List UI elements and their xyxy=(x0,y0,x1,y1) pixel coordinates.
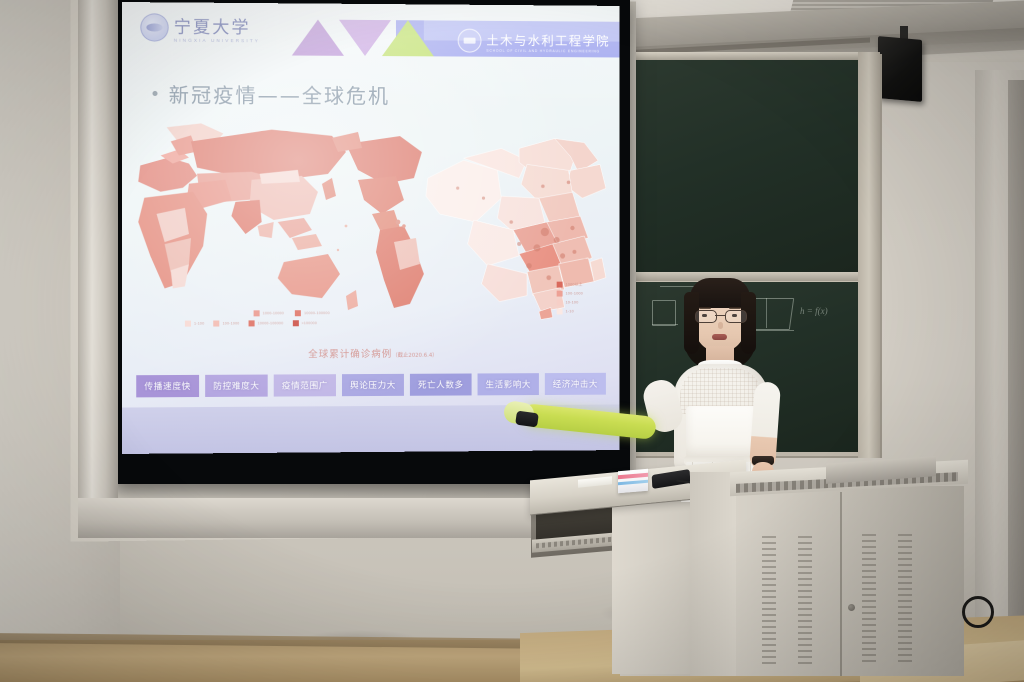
legend-label: 100-1000 xyxy=(566,292,583,296)
legend-swatch-icon xyxy=(557,300,563,306)
china-choropleth-map xyxy=(424,126,612,322)
bullet-point-icon xyxy=(152,91,157,96)
legend-swatch-icon xyxy=(213,320,219,326)
glasses xyxy=(694,310,746,322)
cabinet-vent xyxy=(862,534,876,664)
world-map-legend-row-2: 1-100 100-1000 10000-100000 >100000 xyxy=(185,320,317,326)
glasses-bridge xyxy=(715,315,725,316)
keyword-chip[interactable]: 死亡人数多 xyxy=(410,373,472,395)
map-caption-main: 全球累计确诊病例 xyxy=(308,349,392,360)
coiled-cable xyxy=(962,596,994,628)
legend-label: 1000-10000 xyxy=(263,311,284,315)
legend-swatch-icon xyxy=(557,282,563,288)
cabinet-side-panel xyxy=(690,472,740,676)
legend-item: 10-100 xyxy=(557,299,583,305)
nose xyxy=(718,322,723,329)
legend-label: 10000-100000 xyxy=(304,311,330,315)
legend-swatch-icon xyxy=(557,291,563,297)
legend-label: 1-100 xyxy=(194,322,204,326)
legend-label: >100000 xyxy=(301,321,317,325)
university-name-cn: 宁夏大学 xyxy=(174,13,260,39)
legend-swatch-icon xyxy=(254,310,260,316)
school-seal-icon xyxy=(458,29,482,53)
keyword-chip[interactable]: 生活影响大 xyxy=(478,373,539,395)
university-name-en: NINGXIA UNIVERSITY xyxy=(174,38,260,44)
dress-bodice xyxy=(686,406,758,458)
lens-left xyxy=(695,310,717,323)
slide-header: 宁夏大学 NINGXIA UNIVERSITY 土木与水利工程学院 SCHOOL… xyxy=(122,2,620,67)
chalkboard-top-rail xyxy=(634,52,862,60)
school-name-cn: 土木与水利工程学院 xyxy=(486,29,609,49)
legend-item: 100-1000 xyxy=(557,291,583,297)
screen-aluminum-frame-left xyxy=(78,0,118,536)
chalkboard-upper-panel xyxy=(636,60,858,274)
triangle-decoration-purple xyxy=(292,19,344,55)
chalkboard-side-panel xyxy=(858,52,880,458)
lens-right xyxy=(725,310,747,323)
cabinet-vent xyxy=(762,536,776,666)
legend-item: >100000 xyxy=(292,320,317,326)
legend-label: 10-100 xyxy=(566,300,579,304)
door-gap xyxy=(1008,80,1024,640)
keyword-chip[interactable]: 舆论压力大 xyxy=(342,374,404,396)
hair-side-left xyxy=(684,292,699,354)
map-caption: 全球累计确诊病例（截止2020.6.4） xyxy=(122,345,620,361)
cabinet-vent xyxy=(898,534,912,664)
hair-side-right xyxy=(741,292,756,354)
legend-label: 100-1000 xyxy=(223,321,240,325)
eyebrow xyxy=(729,307,741,309)
legend-item: 1000-10000 xyxy=(254,310,284,316)
slide-title: 新冠疫情——全球危机 xyxy=(169,79,390,109)
keyword-chip[interactable]: 防控难度大 xyxy=(205,375,268,397)
school-logo: 土木与水利工程学院 SCHOOL OF CIVIL AND HYDRAULIC … xyxy=(458,29,610,54)
legend-swatch-icon xyxy=(292,320,298,326)
legend-item: 1000以上 xyxy=(557,282,583,288)
legend-label: 10000-100000 xyxy=(258,321,284,325)
legend-swatch-icon xyxy=(295,310,301,316)
legend-item: 100-1000 xyxy=(213,320,239,326)
legend-item: 1-10 xyxy=(557,308,583,314)
classroom-scene: h = f(x) 宁夏大学 NINGXIA UNIVERSITY xyxy=(0,0,1024,682)
wall-speaker xyxy=(878,36,922,102)
keyword-chip[interactable]: 传播速度快 xyxy=(136,375,199,398)
legend-item: 10000-100000 xyxy=(295,310,330,316)
world-map-legend-row-1: 1000-10000 10000-100000 xyxy=(254,310,330,316)
cabinet-door-seam xyxy=(840,492,842,676)
legend-item: 1-100 xyxy=(185,321,204,327)
world-choropleth-map xyxy=(130,121,428,335)
slide-title-row: 新冠疫情——全球危机 xyxy=(152,79,390,109)
keyword-chip-row: 传播速度快 防控难度大 疫情范围广 舆论压力大 死亡人数多 生活影响大 经济冲击… xyxy=(136,373,606,398)
legend-label: 1-10 xyxy=(566,309,574,313)
legend-swatch-icon xyxy=(249,320,255,326)
triangle-decoration-green xyxy=(382,20,434,56)
keyword-chip[interactable]: 疫情范围广 xyxy=(274,374,336,396)
school-name-en: SCHOOL OF CIVIL AND HYDRAULIC ENGINEERIN… xyxy=(486,48,609,53)
presenter-remote[interactable] xyxy=(515,411,539,428)
keyword-chip[interactable]: 经济冲击大 xyxy=(545,373,606,395)
chalkboard-note: h = f(x) xyxy=(800,306,828,316)
china-map-legend: 1000以上 100-1000 10-100 1-10 xyxy=(557,282,583,315)
legend-item: 10000-100000 xyxy=(249,320,284,326)
mouth xyxy=(712,334,727,340)
university-logo: 宁夏大学 NINGXIA UNIVERSITY xyxy=(140,12,260,43)
cabinet-vent xyxy=(798,536,812,666)
legend-swatch-icon xyxy=(557,308,563,314)
eyebrow xyxy=(699,307,711,309)
map-caption-note: （截止2020.6.4） xyxy=(392,353,437,359)
cabinet-door-knob[interactable] xyxy=(848,604,855,611)
presentation-slide[interactable]: 宁夏大学 NINGXIA UNIVERSITY 土木与水利工程学院 SCHOOL… xyxy=(122,2,620,454)
legend-label: 1000以上 xyxy=(566,282,583,287)
university-seal-icon xyxy=(140,13,168,41)
legend-swatch-icon xyxy=(185,321,191,327)
